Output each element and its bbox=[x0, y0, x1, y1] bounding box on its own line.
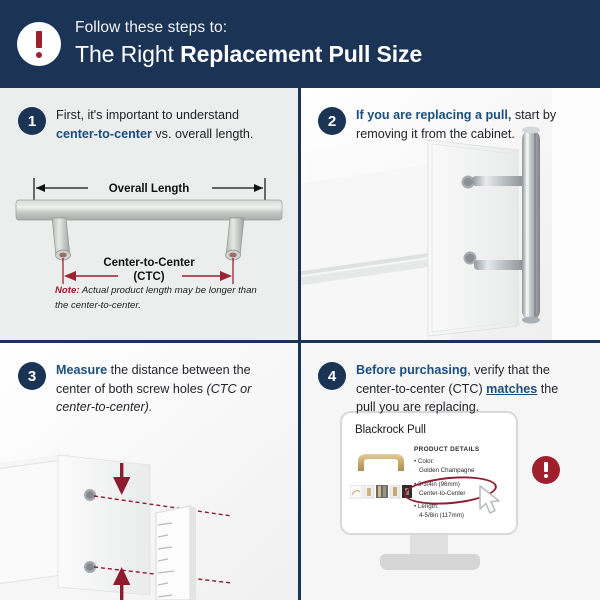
product-image bbox=[352, 445, 410, 479]
product-title: Blackrock Pull bbox=[355, 424, 426, 436]
step-panel-4: 4 Before purchasing, verify that the cen… bbox=[300, 343, 600, 600]
step-1-heading: 1 First, it's important to understand ce… bbox=[18, 106, 274, 143]
step-1-emphasis: center-to-center bbox=[56, 127, 152, 141]
step-2-emphasis: If you are replacing a pull, bbox=[356, 108, 511, 122]
step-3-emphasis: Measure bbox=[56, 363, 107, 377]
mouse-pointer-icon bbox=[478, 485, 504, 517]
step-3-text: Measure the distance between the center … bbox=[56, 361, 274, 417]
step-panel-1: 1 First, it's important to understand ce… bbox=[0, 88, 298, 340]
pull-measurement-diagram: Overall Length Center-to-Center (C bbox=[0, 166, 298, 286]
header-kicker: Follow these steps to: bbox=[75, 18, 422, 37]
grid-vertical-divider bbox=[298, 88, 301, 600]
exclamation-badge-icon bbox=[17, 22, 61, 66]
steps-grid: 1 First, it's important to understand ce… bbox=[0, 88, 600, 600]
ruler bbox=[156, 506, 196, 600]
page-title: The Right Replacement Pull Size bbox=[75, 40, 422, 70]
thumbnail-swatches bbox=[350, 485, 412, 499]
step-panel-3: 3 Measure the distance between the cente… bbox=[0, 343, 298, 600]
infographic-root: Follow these steps to: The Right Replace… bbox=[0, 0, 600, 600]
grid-horizontal-divider bbox=[0, 340, 600, 343]
step-4-emphasis: Before purchasing bbox=[356, 363, 467, 377]
step-2-text: If you are replacing a pull, start by re… bbox=[356, 106, 574, 143]
step-number-2: 2 bbox=[318, 107, 346, 135]
product-details-heading: PRODUCT DETAILS bbox=[414, 446, 480, 453]
ctc-label: Center-to-Center bbox=[103, 257, 195, 269]
header-banner: Follow these steps to: The Right Replace… bbox=[0, 0, 600, 88]
step-4-text: Before purchasing, verify that the cente… bbox=[356, 361, 574, 417]
step-4-heading: 4 Before purchasing, verify that the cen… bbox=[318, 361, 574, 417]
matches-link[interactable]: matches bbox=[486, 382, 537, 396]
detail-color-label: Color: bbox=[418, 458, 435, 465]
exclamation-icon bbox=[532, 456, 560, 484]
monitor-stand-base bbox=[380, 554, 480, 570]
step-1-lead: First, it's important to understand bbox=[56, 108, 239, 122]
title-light: The Right bbox=[75, 41, 180, 67]
product-page-screen: Blackrock Pull bbox=[340, 411, 518, 535]
note-text: Actual product length may be longer than… bbox=[55, 285, 257, 311]
header-text-group: Follow these steps to: The Right Replace… bbox=[75, 18, 422, 69]
ctc-sublabel: (CTC) bbox=[133, 271, 164, 283]
step-number-1: 1 bbox=[18, 107, 46, 135]
step-panel-2: 2 If you are replacing a pull, start by … bbox=[300, 88, 600, 340]
title-bold: Replacement Pull Size bbox=[180, 41, 422, 67]
note-label: Note: bbox=[55, 285, 80, 296]
step-3-heading: 3 Measure the distance between the cente… bbox=[18, 361, 274, 417]
step-1-note: Note: Actual product length may be longe… bbox=[55, 284, 270, 314]
monitor-mockup: Blackrock Pull bbox=[340, 411, 520, 591]
detail-color-value: Golden Champagne bbox=[414, 466, 506, 475]
step-2-heading: 2 If you are replacing a pull, start by … bbox=[318, 106, 574, 143]
step-1-text: First, it's important to understand cent… bbox=[56, 106, 274, 143]
step-1-tail: vs. overall length. bbox=[152, 127, 254, 141]
step-number-4: 4 bbox=[318, 362, 346, 390]
step-number-3: 3 bbox=[18, 362, 46, 390]
overall-length-label: Overall Length bbox=[109, 183, 190, 195]
detail-row-color: • Color: Golden Champagne bbox=[414, 457, 506, 476]
